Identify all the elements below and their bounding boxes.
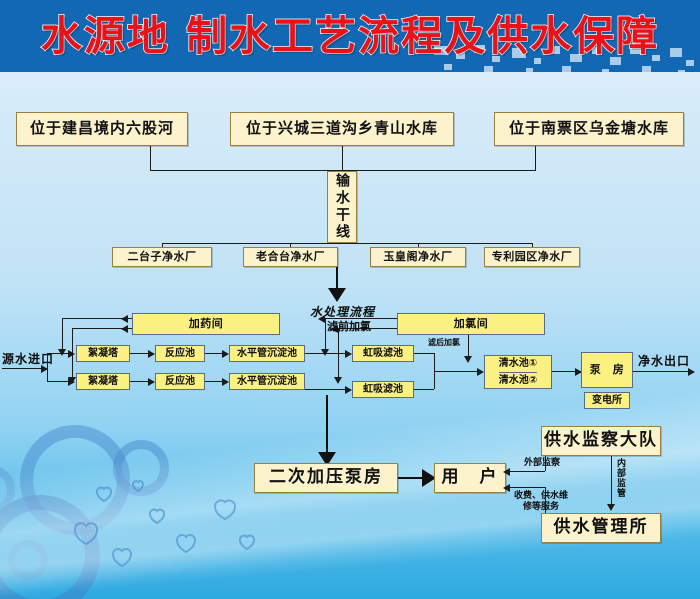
arrow-a2 xyxy=(222,350,229,358)
connector-to-booster xyxy=(326,395,328,455)
inspection-team-label: 供水监察大队 xyxy=(544,431,658,451)
outlet-label: 净水出口 xyxy=(638,352,690,369)
arrow-post-chlorine-down xyxy=(464,356,472,363)
plant-label-3: 玉皇阁净水厂 xyxy=(384,251,453,264)
connector-outlet xyxy=(633,371,693,372)
source-label-3: 位于南票区乌金塘水库 xyxy=(509,120,669,137)
plant-label-2: 老合台净水厂 xyxy=(256,251,325,264)
connector-inlet xyxy=(2,368,45,369)
line-b-reaction-tank[interactable]: 反应池 xyxy=(155,373,205,390)
source-label-2: 位于兴城三道沟乡青山水库 xyxy=(246,120,438,137)
arrow-a3 xyxy=(345,350,352,358)
line-a-siphon-filter[interactable]: 虹吸滤池 xyxy=(352,345,414,362)
arrow-outlet xyxy=(688,368,695,376)
source-box-2[interactable]: 位于兴城三道沟乡青山水库 xyxy=(230,112,454,146)
source-label-1: 位于建昌境内六股河 xyxy=(30,120,174,137)
user-label: 用 户 xyxy=(442,468,499,488)
service-label: 收费、供水维修等服务 xyxy=(514,491,568,514)
dosing-room-label: 加药间 xyxy=(189,318,224,331)
substation-box[interactable]: 变电所 xyxy=(584,392,630,409)
connector-service-to-user xyxy=(508,487,545,488)
source-box-1[interactable]: 位于建昌境内六股河 xyxy=(16,112,188,146)
connector-plant-to-process xyxy=(336,267,338,289)
arrow-to-line-b xyxy=(68,378,75,386)
plant-box-1[interactable]: 二台子净水厂 xyxy=(112,247,212,267)
dosing-room-box[interactable]: 加药间 xyxy=(132,313,280,335)
connector-dosing-down-a xyxy=(62,318,63,353)
arrow-plant-to-process xyxy=(328,288,346,302)
connector-chlorine-down-a xyxy=(325,318,326,353)
arrow-chlorine-down-b xyxy=(334,377,342,384)
arrow-internal-supervision xyxy=(607,504,615,511)
line-a-sedimentation-label: 水平管沉淀池 xyxy=(237,348,297,360)
line-a-flocculator[interactable]: 絮凝塔 xyxy=(76,345,130,362)
line-a-sedimentation-tank[interactable]: 水平管沉淀池 xyxy=(229,345,305,362)
pre-filter-chlorine-label: 滤前加氯 xyxy=(327,318,371,334)
connector-merge-to-well xyxy=(434,371,482,372)
line-b-flocculator[interactable]: 絮凝塔 xyxy=(76,373,130,390)
line-b-siphon-filter[interactable]: 虹吸滤池 xyxy=(352,381,414,398)
chlorine-room-label: 加氯间 xyxy=(454,318,489,331)
line-b-reaction-label: 反应池 xyxy=(165,376,195,388)
chlorine-room-box[interactable]: 加氯间 xyxy=(397,313,545,335)
arrow-chlorine-a xyxy=(318,315,325,323)
line-b-sedimentation-tank[interactable]: 水平管沉淀池 xyxy=(229,373,305,390)
line-a-flocculator-label: 絮凝塔 xyxy=(88,348,118,360)
clear-well-box[interactable]: 清水池① 清水池② xyxy=(484,355,552,389)
connector-filter-a-out xyxy=(414,353,434,354)
management-office-box[interactable]: 供水管理所 xyxy=(541,513,661,543)
trunk-line-box[interactable]: 输水干线 xyxy=(327,171,357,243)
pump-house-box[interactable]: 泵 房 xyxy=(581,352,633,388)
line-b-siphon-label: 虹吸滤池 xyxy=(363,384,403,396)
plant-box-4[interactable]: 专利园区净水厂 xyxy=(484,247,580,267)
arrow-b3 xyxy=(345,386,352,394)
connector-filter-b-out xyxy=(414,389,434,390)
connector-source1-down xyxy=(150,146,151,170)
booster-station-box[interactable]: 二次加压泵房 xyxy=(254,463,398,493)
poster-root: 水源地 制水工艺流程及供水保障 位于建昌境内六股河 位于兴城三道沟乡青山水库 位… xyxy=(0,0,700,599)
pump-house-label: 泵 房 xyxy=(590,364,625,377)
inspection-team-box[interactable]: 供水监察大队 xyxy=(541,426,661,456)
line-a-siphon-label: 虹吸滤池 xyxy=(363,348,403,360)
arrow-b2 xyxy=(222,378,229,386)
external-inspection-label: 外部监察 xyxy=(518,458,566,469)
source-box-3[interactable]: 位于南票区乌金塘水库 xyxy=(494,112,684,146)
connector-chlorine-down-b xyxy=(338,328,339,381)
arrow-dosing-a xyxy=(121,315,128,323)
arrow-to-line-a xyxy=(68,350,75,358)
substation-label: 变电所 xyxy=(592,395,622,407)
connector-inlet-split xyxy=(47,353,48,381)
management-office-label: 供水管理所 xyxy=(554,518,649,538)
post-filter-chlorine-label: 滤后加氯 xyxy=(428,337,460,348)
connector-source3-down xyxy=(535,146,536,170)
arrow-external-to-user xyxy=(503,468,510,476)
arrow-b1 xyxy=(148,378,155,386)
line-b-sedimentation-label: 水平管沉淀池 xyxy=(237,376,297,388)
arrow-a1 xyxy=(148,350,155,358)
bubble-specks xyxy=(55,470,275,585)
arrow-service-to-user xyxy=(503,484,510,492)
connector-source2-down xyxy=(342,146,343,170)
trunk-line-label: 输水干线 xyxy=(334,173,350,241)
line-b-flocculator-label: 絮凝塔 xyxy=(88,376,118,388)
line-a-reaction-tank[interactable]: 反应池 xyxy=(155,345,205,362)
connector-external-to-user xyxy=(508,471,545,472)
clear-well-1-label: 清水池① xyxy=(499,356,537,373)
title-banner: 水源地 制水工艺流程及供水保障 xyxy=(0,0,700,72)
connector-trunk-bus xyxy=(162,243,532,244)
plant-label-1: 二台子净水厂 xyxy=(128,251,197,264)
arrow-merge-to-well xyxy=(477,368,484,376)
plant-box-2[interactable]: 老合台净水厂 xyxy=(243,247,338,267)
connector-a3 xyxy=(305,353,348,354)
booster-station-label: 二次加压泵房 xyxy=(269,468,383,488)
plant-box-3[interactable]: 玉皇阁净水厂 xyxy=(370,247,466,267)
clear-well-2-label: 清水池② xyxy=(499,373,537,389)
page-title: 水源地 制水工艺流程及供水保障 xyxy=(0,11,700,61)
line-a-reaction-label: 反应池 xyxy=(165,348,195,360)
connector-internal-supervision xyxy=(611,456,612,506)
internal-supervision-label: 内部监管 xyxy=(614,458,627,498)
arrow-dosing-b xyxy=(121,325,128,333)
bubble-ring-edge xyxy=(8,540,48,580)
user-box[interactable]: 用 户 xyxy=(434,463,506,493)
connector-b3 xyxy=(305,389,348,390)
plant-label-4: 专利园区净水厂 xyxy=(492,251,573,264)
